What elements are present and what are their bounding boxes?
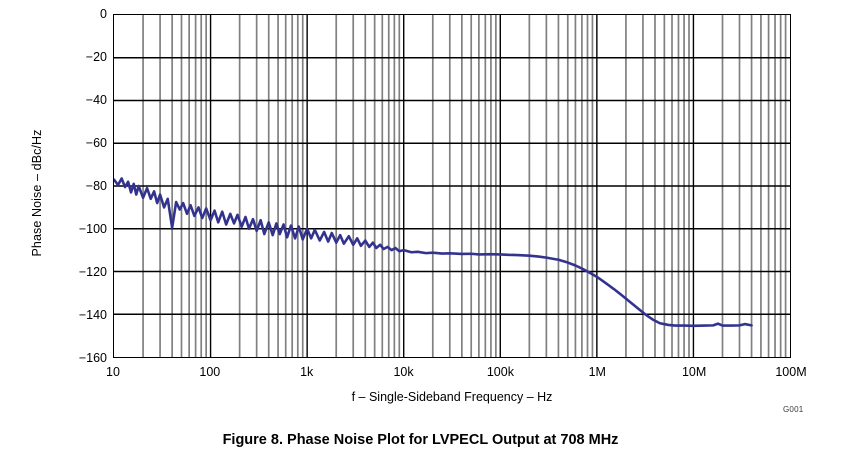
x-axis-title: f – Single-Sideband Frequency – Hz [113, 390, 791, 404]
x-axis-tick-labels: 101001k10k100k1M10M100M [0, 366, 841, 384]
graph-id-label: G001 [783, 405, 803, 414]
x-tick-label: 100M [751, 366, 831, 379]
y-tick-label: −140 [47, 309, 107, 322]
y-axis-tick-labels: 0−20−40−60−80−100−120−140−160 [43, 0, 107, 462]
phase-noise-figure: Phase Noise – dBc/Hz 0−20−40−60−80−100−1… [0, 0, 841, 462]
x-tick-label: 10k [364, 366, 444, 379]
y-tick-label: −80 [47, 180, 107, 193]
x-tick-label: 100 [170, 366, 250, 379]
plot-area [113, 14, 791, 358]
figure-caption: Figure 8. Phase Noise Plot for LVPECL Ou… [0, 432, 841, 448]
y-tick-label: −40 [47, 94, 107, 107]
x-tick-label: 1k [267, 366, 347, 379]
x-tick-label: 10 [73, 366, 153, 379]
x-tick-label: 10M [654, 366, 734, 379]
y-tick-label: 0 [47, 8, 107, 21]
x-tick-label: 1M [557, 366, 637, 379]
y-axis-title: Phase Noise – dBc/Hz [30, 78, 44, 308]
y-tick-label: −20 [47, 51, 107, 64]
phase-noise-trace [114, 15, 790, 357]
y-tick-label: −120 [47, 266, 107, 279]
y-tick-label: −100 [47, 223, 107, 236]
x-tick-label: 100k [460, 366, 540, 379]
y-tick-label: −60 [47, 137, 107, 150]
y-tick-label: −160 [47, 352, 107, 365]
